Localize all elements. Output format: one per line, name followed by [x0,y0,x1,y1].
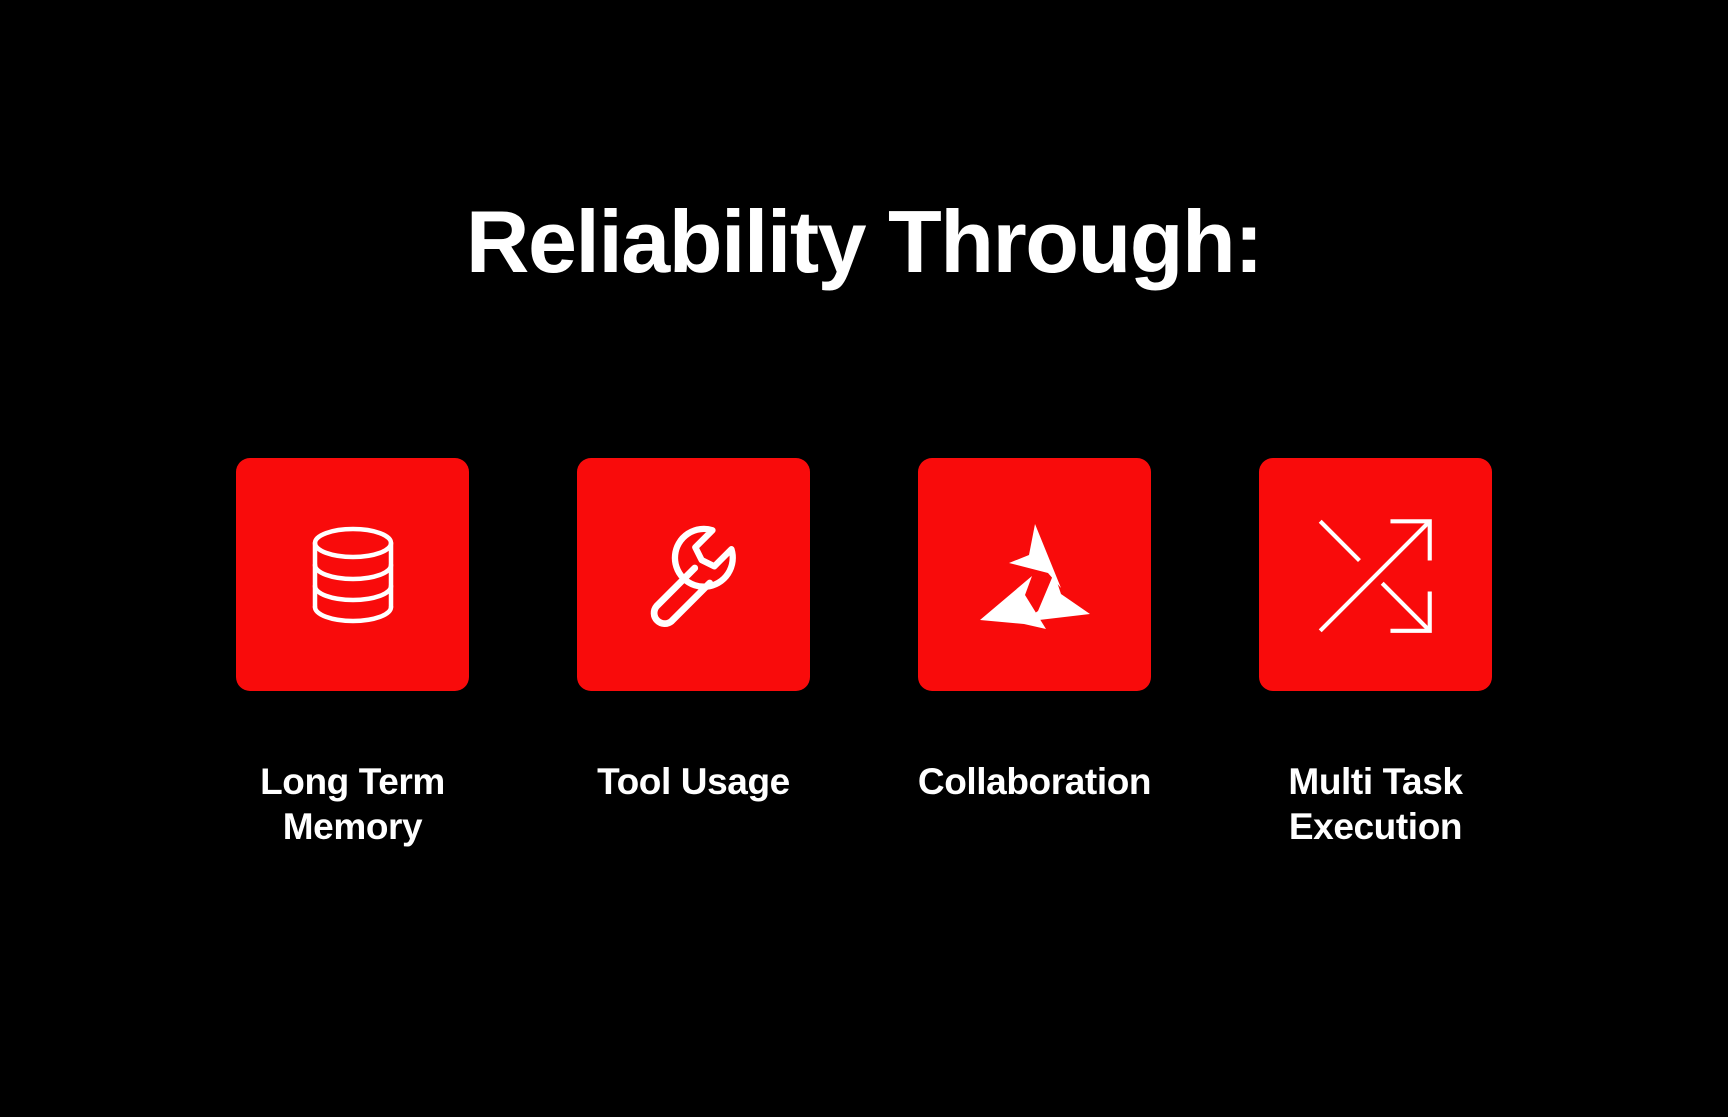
icon-tile-tool-usage [577,458,810,691]
feature-card-label: Multi Task Execution [1288,759,1462,849]
icon-tile-multi-task-execution [1259,458,1492,691]
feature-card-label: Collaboration [918,759,1151,804]
page-title: Reliability Through: [0,196,1728,288]
icon-tile-collaboration [918,458,1151,691]
recycle-arrows-icon [972,516,1098,634]
feature-card-label: Tool Usage [597,759,790,804]
feature-card-tool-usage[interactable]: Tool Usage [577,458,810,804]
slide: Reliability Through: Long Term Memory [0,0,1728,1117]
feature-card-multi-task-execution[interactable]: Multi Task Execution [1259,458,1492,849]
feature-card-label: Long Term Memory [260,759,445,849]
feature-card-collaboration[interactable]: Collaboration [918,458,1151,804]
wrench-icon [631,512,757,638]
feature-card-long-term-memory[interactable]: Long Term Memory [236,458,469,849]
shuffle-arrows-icon [1314,513,1438,637]
icon-tile-long-term-memory [236,458,469,691]
feature-card-list: Long Term Memory Tool Usage [0,458,1728,849]
database-icon [293,515,413,635]
